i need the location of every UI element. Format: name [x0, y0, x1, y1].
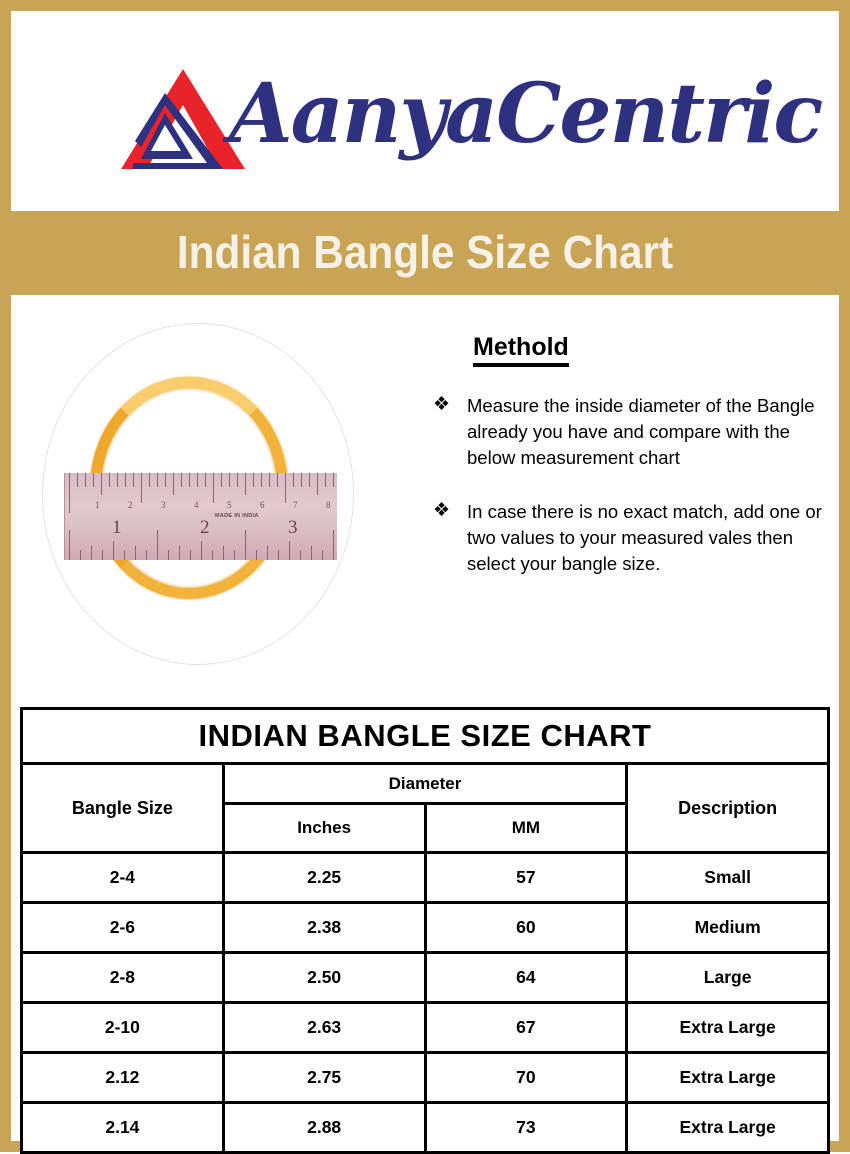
cell-inches: 2.50 — [223, 953, 425, 1003]
cell-mm: 64 — [425, 953, 627, 1003]
ruler-inch-label: 1 — [112, 517, 122, 539]
cell-mm: 73 — [425, 1103, 627, 1153]
column-header-description: Description — [627, 764, 829, 853]
cell-description: Extra Large — [627, 1053, 829, 1103]
list-item-text: Measure the inside diameter of the Bangl… — [467, 395, 815, 468]
column-header-bangle-size: Bangle Size — [22, 764, 224, 853]
cell-description: Extra Large — [627, 1003, 829, 1053]
ruler-cm-label: 4 — [194, 500, 199, 510]
brand-wordmark: AanyaCentric — [229, 55, 749, 175]
ruler-cm-label: 6 — [260, 500, 265, 510]
title-banner: Indian Bangle Size Chart — [0, 212, 850, 294]
cell-description: Large — [627, 953, 829, 1003]
cell-description: Small — [627, 853, 829, 903]
column-group-header-diameter: Diameter — [223, 764, 627, 804]
cell-bangle-size: 2-4 — [22, 853, 224, 903]
table-title-row: INDIAN BANGLE SIZE CHART — [22, 709, 829, 764]
page-title: Indian Bangle Size Chart — [34, 212, 816, 294]
cell-bangle-size: 2-8 — [22, 953, 224, 1003]
table-row: 2-4 2.25 57 Small — [22, 853, 829, 903]
method-block: Methold ❖ Measure the inside diameter of… — [421, 333, 833, 605]
bangle-size-chart-page: AanyaCentric Indian Bangle Size Chart — [0, 0, 850, 1152]
ruler-cm-label: 7 — [293, 500, 298, 510]
cell-inches: 2.63 — [223, 1003, 425, 1053]
ruler-made-in-label: MADE IN INDIA — [215, 513, 259, 519]
table-row: 2-6 2.38 60 Medium — [22, 903, 829, 953]
diamond-bullet-icon: ❖ — [433, 500, 450, 522]
table-row: 2.14 2.88 73 Extra Large — [22, 1103, 829, 1153]
list-item: ❖ Measure the inside diameter of the Ban… — [421, 393, 833, 471]
size-chart-table: INDIAN BANGLE SIZE CHART Bangle Size Dia… — [20, 707, 830, 1154]
cell-mm: 67 — [425, 1003, 627, 1053]
ruler-inch-label: 3 — [288, 517, 298, 539]
ruler-cm-label: 8 — [326, 500, 331, 510]
cell-bangle-size: 2-10 — [22, 1003, 224, 1053]
table-title: INDIAN BANGLE SIZE CHART — [22, 709, 829, 764]
cell-mm: 70 — [425, 1053, 627, 1103]
cell-inches: 2.25 — [223, 853, 425, 903]
table-row: 2.12 2.75 70 Extra Large — [22, 1053, 829, 1103]
ruler-cm-label: 1 — [95, 500, 100, 510]
aanyacentric-logo-icon — [119, 67, 247, 171]
cell-description: Medium — [627, 903, 829, 953]
cell-inches: 2.38 — [223, 903, 425, 953]
table-row: 2-8 2.50 64 Large — [22, 953, 829, 1003]
logo-panel: AanyaCentric — [11, 11, 839, 211]
bangle-measurement-photo: 1 2 3 4 5 6 7 8 MADE IN INDIA — [24, 315, 374, 670]
ruler-cm-label: 5 — [227, 500, 232, 510]
list-item-text: In case there is no exact match, add one… — [467, 501, 822, 574]
table-row: 2-10 2.63 67 Extra Large — [22, 1003, 829, 1053]
diamond-bullet-icon: ❖ — [433, 394, 450, 416]
method-heading: Methold — [473, 333, 569, 367]
ruler-image: 1 2 3 4 5 6 7 8 MADE IN INDIA — [64, 473, 337, 560]
cell-bangle-size: 2.14 — [22, 1103, 224, 1153]
column-header-inches: Inches — [223, 804, 425, 853]
cell-mm: 60 — [425, 903, 627, 953]
method-panel: 1 2 3 4 5 6 7 8 MADE IN INDIA — [11, 295, 839, 692]
logo-inner: AanyaCentric — [11, 11, 839, 211]
cell-bangle-size: 2-6 — [22, 903, 224, 953]
column-header-mm: MM — [425, 804, 627, 853]
table-header-row-1: Bangle Size Diameter Description — [22, 764, 829, 804]
ruler-cm-label: 3 — [161, 500, 166, 510]
cell-inches: 2.75 — [223, 1053, 425, 1103]
ruler-cm-label: 2 — [128, 500, 133, 510]
cell-mm: 57 — [425, 853, 627, 903]
cell-bangle-size: 2.12 — [22, 1053, 224, 1103]
method-bullet-list: ❖ Measure the inside diameter of the Ban… — [421, 393, 833, 577]
cell-inches: 2.88 — [223, 1103, 425, 1153]
list-item: ❖ In case there is no exact match, add o… — [421, 499, 833, 577]
ruler-inch-label: 2 — [200, 517, 210, 539]
size-chart-panel: INDIAN BANGLE SIZE CHART Bangle Size Dia… — [11, 692, 839, 1141]
cell-description: Extra Large — [627, 1103, 829, 1153]
